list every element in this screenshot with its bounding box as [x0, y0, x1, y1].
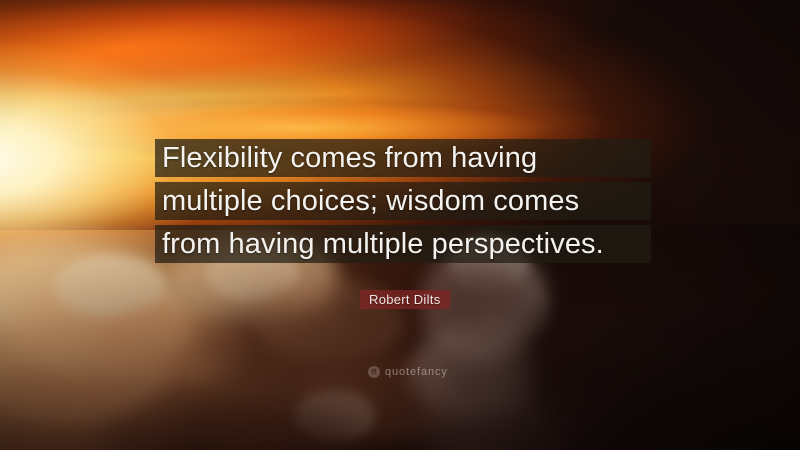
quote-poster: Flexibility comes from having multiple c…: [0, 0, 800, 450]
quotefancy-badge-icon: ff: [368, 366, 380, 378]
quote-text-block: Flexibility comes from having multiple c…: [155, 139, 651, 263]
author-name: Robert Dilts: [360, 290, 450, 309]
author-attribution: Robert Dilts: [360, 290, 450, 309]
quote-line-3: from having multiple perspectives.: [155, 225, 651, 263]
watermark: ff quotefancy: [368, 366, 448, 378]
quote-line-1: Flexibility comes from having: [155, 139, 651, 177]
watermark-brand-label: quotefancy: [385, 366, 448, 378]
quote-line-2: multiple choices; wisdom comes: [155, 182, 651, 220]
